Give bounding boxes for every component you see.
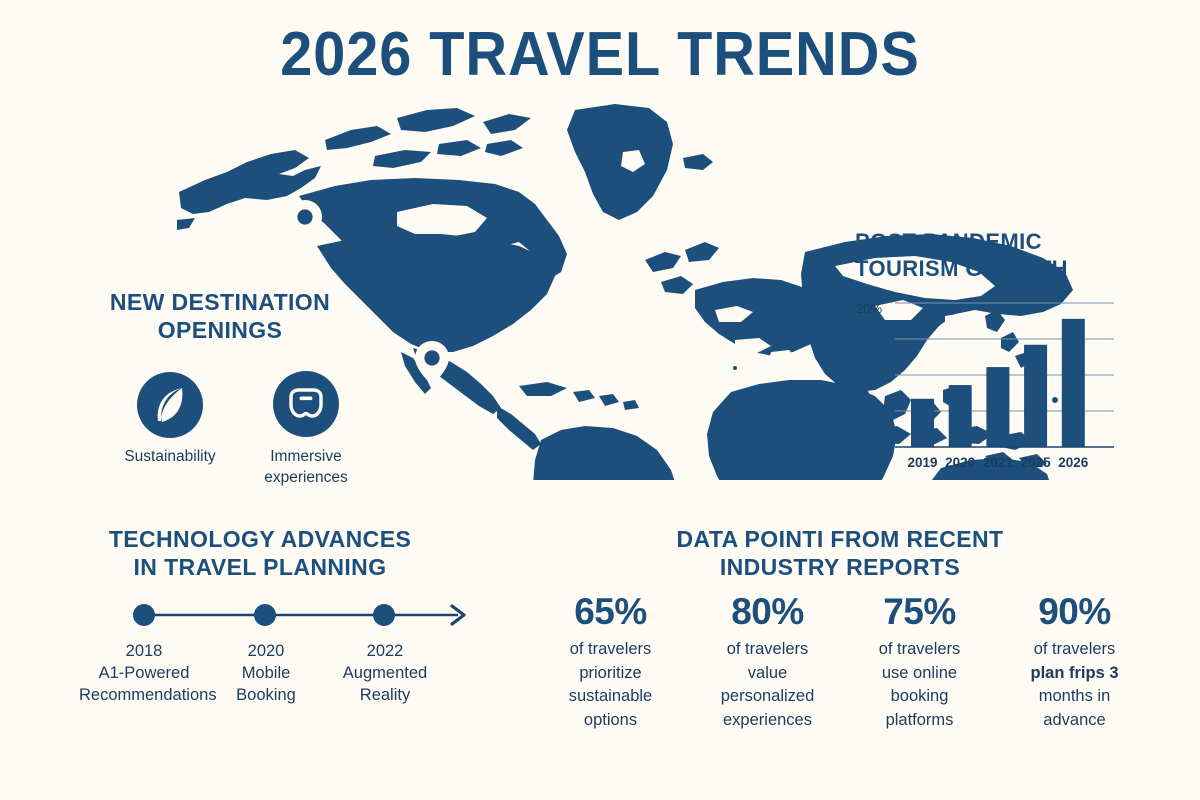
timeline-entry-2018: 2018 A1-Powered Recommendations (79, 642, 209, 706)
stat-description: of travelers plan frips 3 months in adva… (1012, 638, 1137, 732)
stat-desc-line-1: of travelers (857, 638, 982, 662)
chart-x-label-2020: 2020 (940, 455, 980, 470)
timeline-desc-line-2: Booking (201, 684, 331, 706)
caption-line-2: experiences (241, 467, 371, 488)
timeline-entry-2020: 2020 Mobile Booking (201, 642, 331, 706)
timeline-dot-2020[interactable] (254, 604, 276, 626)
stat-desc-line-3: booking (857, 685, 982, 709)
stat-desc-line-4: experiences (705, 709, 830, 733)
chart-bar-2026[interactable] (1062, 319, 1085, 447)
chart-x-label-2021: 2021 (978, 455, 1018, 470)
pin-south-america[interactable] (415, 341, 449, 385)
stat-description: of travelers prioritize sustainable opti… (548, 638, 673, 732)
heading-line-1: POST-PANDEMIC (855, 228, 1115, 255)
stat-description: of travelers value personalized experien… (705, 638, 830, 732)
heading-new-destination-openings: NEW DESTINATION OPENINGS (60, 288, 380, 344)
stat-block: 80% of travelers value personalized expe… (705, 592, 830, 732)
timeline-year: 2022 (320, 642, 450, 661)
stat-desc-line-2: use online (857, 662, 982, 686)
chart-x-label-2025: 2025 (1016, 455, 1056, 470)
vr-headset-icon[interactable] (273, 371, 339, 437)
timeline-year: 2018 (79, 642, 209, 661)
stat-value: 75% (857, 592, 982, 632)
stat-desc-line-1: of travelers (548, 638, 673, 662)
stat-desc-line-2: prioritize (548, 662, 673, 686)
chart-x-label-2026: 2026 (1053, 455, 1093, 470)
leaf-icon[interactable] (137, 372, 203, 438)
caption-immersive: Immersive experiences (241, 446, 371, 488)
heading-line-1: DATA POINTI FROM RECENT (630, 525, 1050, 553)
bar-chart (852, 296, 1120, 476)
timeline-desc-line-2: Recommendations (79, 684, 209, 706)
chart-bars (911, 319, 1085, 447)
stat-desc-line-1: of travelers (705, 638, 830, 662)
timeline-entry-2022: 2022 Augmented Reality (320, 642, 450, 706)
stat-desc-line-1: of travelers (1012, 638, 1137, 662)
timeline-dot-2022[interactable] (373, 604, 395, 626)
stat-desc-line-2: plan frips 3 (1012, 662, 1137, 686)
timeline-dot-2018[interactable] (133, 604, 155, 626)
heading-line-1: NEW DESTINATION (60, 288, 380, 316)
stat-block: 65% of travelers prioritize sustainable … (548, 592, 673, 732)
stat-desc-line-3: sustainable (548, 685, 673, 709)
infographic-canvas: 2026 TRAVEL TRENDS (0, 0, 1200, 800)
stat-description: of travelers use online booking platform… (857, 638, 982, 732)
heading-line-2: INDUSTRY REPORTS (630, 553, 1050, 581)
heading-line-2: OPENINGS (60, 316, 380, 344)
caption-sustainability: Sustainability (105, 446, 235, 467)
timeline-desc-line-1: Augmented (320, 662, 450, 684)
heading-technology-advances: TECHNOLOGY ADVANCES IN TRAVEL PLANNING (75, 525, 445, 581)
stat-desc-line-3: personalized (705, 685, 830, 709)
heading-line-1: TECHNOLOGY ADVANCES (75, 525, 445, 553)
stat-value: 80% (705, 592, 830, 632)
stat-block: 90% of travelers plan frips 3 months in … (1012, 592, 1137, 732)
stat-desc-line-4: advance (1012, 709, 1137, 733)
chart-bar-2020[interactable] (949, 385, 972, 447)
timeline-year: 2020 (201, 642, 331, 661)
heading-line-2: TOURISM GROWTH (855, 255, 1115, 282)
timeline-desc-line-1: Mobile (201, 662, 331, 684)
stat-value: 90% (1012, 592, 1137, 632)
stat-desc-line-4: options (548, 709, 673, 733)
chart-x-label-2019: 2019 (903, 455, 943, 470)
stat-desc-line-4: platforms (857, 709, 982, 733)
timeline-axis (120, 596, 480, 636)
heading-data-points: DATA POINTI FROM RECENT INDUSTRY REPORTS (630, 525, 1050, 581)
timeline-desc-line-1: A1-Powered (79, 662, 209, 684)
stat-desc-line-3: months in (1012, 685, 1137, 709)
timeline-desc-line-2: Reality (320, 684, 450, 706)
stat-block: 75% of travelers use online booking plat… (857, 592, 982, 732)
caption-line-1: Immersive (241, 446, 371, 467)
pin-north-america[interactable] (288, 200, 322, 244)
chart-bar-2019[interactable] (911, 399, 934, 447)
chart-bar-2025[interactable] (1024, 345, 1047, 447)
stat-desc-line-2: value (705, 662, 830, 686)
stat-value: 65% (548, 592, 673, 632)
heading-tourism-growth: POST-PANDEMIC TOURISM GROWTH (855, 228, 1115, 282)
chart-bar-2021[interactable] (986, 367, 1009, 447)
heading-line-2: IN TRAVEL PLANNING (75, 553, 445, 581)
